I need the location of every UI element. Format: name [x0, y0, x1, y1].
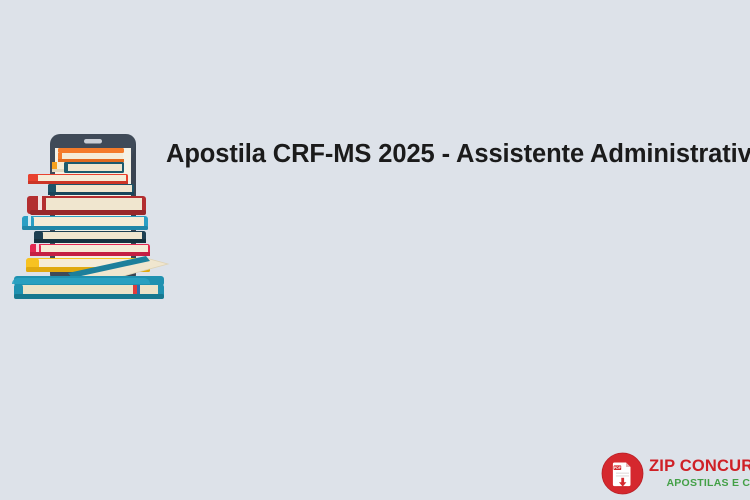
book-crimson — [30, 244, 150, 256]
book-top-teal — [64, 162, 124, 173]
books-stack-and-phone-illustration — [8, 128, 172, 312]
book-navy-mid — [48, 184, 134, 195]
poster-canvas: Apostila CRF-MS 2025 - Assistente Admini… — [0, 0, 750, 500]
page-title: Apostila CRF-MS 2025 - Assistente Admini… — [166, 139, 726, 169]
pdf-download-badge-icon: PDF — [601, 452, 644, 495]
brand-tagline: APOSTILAS E CURSOS — [649, 478, 750, 489]
book-red-upper — [28, 174, 128, 184]
book-base-teal-cover — [12, 278, 150, 284]
book-top-orange — [58, 148, 124, 162]
book-darkred-thick — [27, 196, 146, 215]
brand-name: ZIP CONCURSOS — [649, 458, 750, 475]
brand-text-block: ZIP CONCURSOS APOSTILAS E CURSOS — [649, 458, 750, 488]
svg-text:PDF: PDF — [614, 466, 622, 470]
brand-logo[interactable]: PDF ZIP CONCURSOS APOSTILAS E CURSOS — [601, 450, 741, 496]
book-navy-lower — [34, 231, 146, 243]
book-blue-bright — [22, 216, 148, 230]
